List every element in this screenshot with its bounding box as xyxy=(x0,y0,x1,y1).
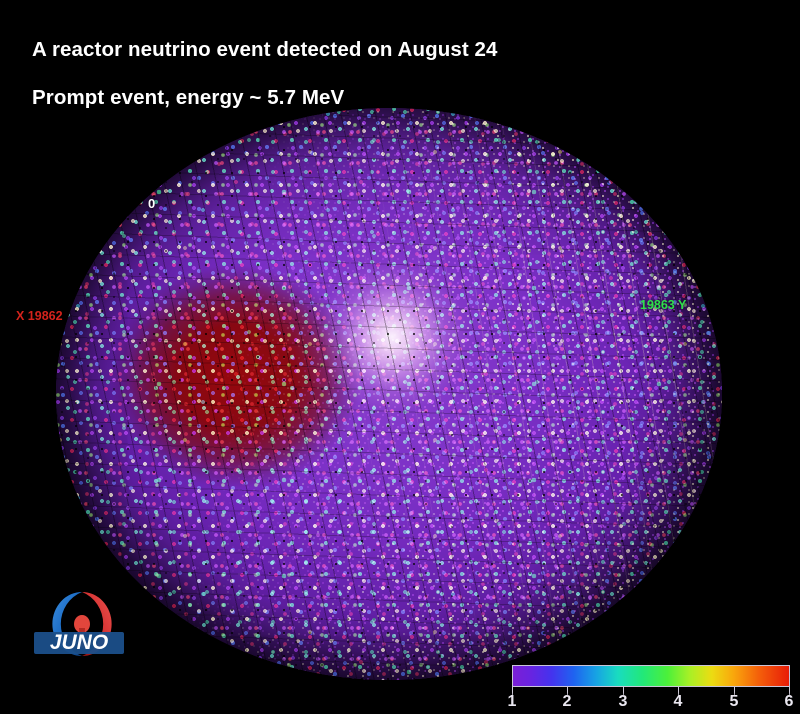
title-block: A reactor neutrino event detected on Aug… xyxy=(32,26,498,122)
colorbar-tick-label: 1 xyxy=(508,693,517,711)
origin-marker-label: 0 xyxy=(148,196,155,211)
colorbar-tick-label: 6 xyxy=(785,693,794,711)
axis-label-x: X 19862 xyxy=(16,309,63,323)
colorbar-tick-label: 2 xyxy=(563,693,572,711)
colorbar-tick-labels: 123456 xyxy=(512,693,790,714)
colorbar-tick-label: 4 xyxy=(674,693,683,711)
title-line-1: A reactor neutrino event detected on Aug… xyxy=(32,26,498,74)
event-display-canvas: X 19862 19863 Y 0 A reactor neutrino eve… xyxy=(0,0,800,714)
axis-label-y: 19863 Y xyxy=(640,298,686,312)
colorbar-tick-label: 5 xyxy=(730,693,739,711)
detector-sphere xyxy=(56,108,722,680)
sphere-limb-shading xyxy=(56,108,722,680)
charge-colorbar: 123456 xyxy=(512,665,790,687)
colorbar-gradient xyxy=(512,665,790,687)
title-line-2: Prompt event, energy ~ 5.7 MeV xyxy=(32,74,498,122)
juno-logo: JUNO xyxy=(28,588,136,660)
colorbar-tick-label: 3 xyxy=(619,693,628,711)
logo-wordmark: JUNO xyxy=(50,631,108,654)
